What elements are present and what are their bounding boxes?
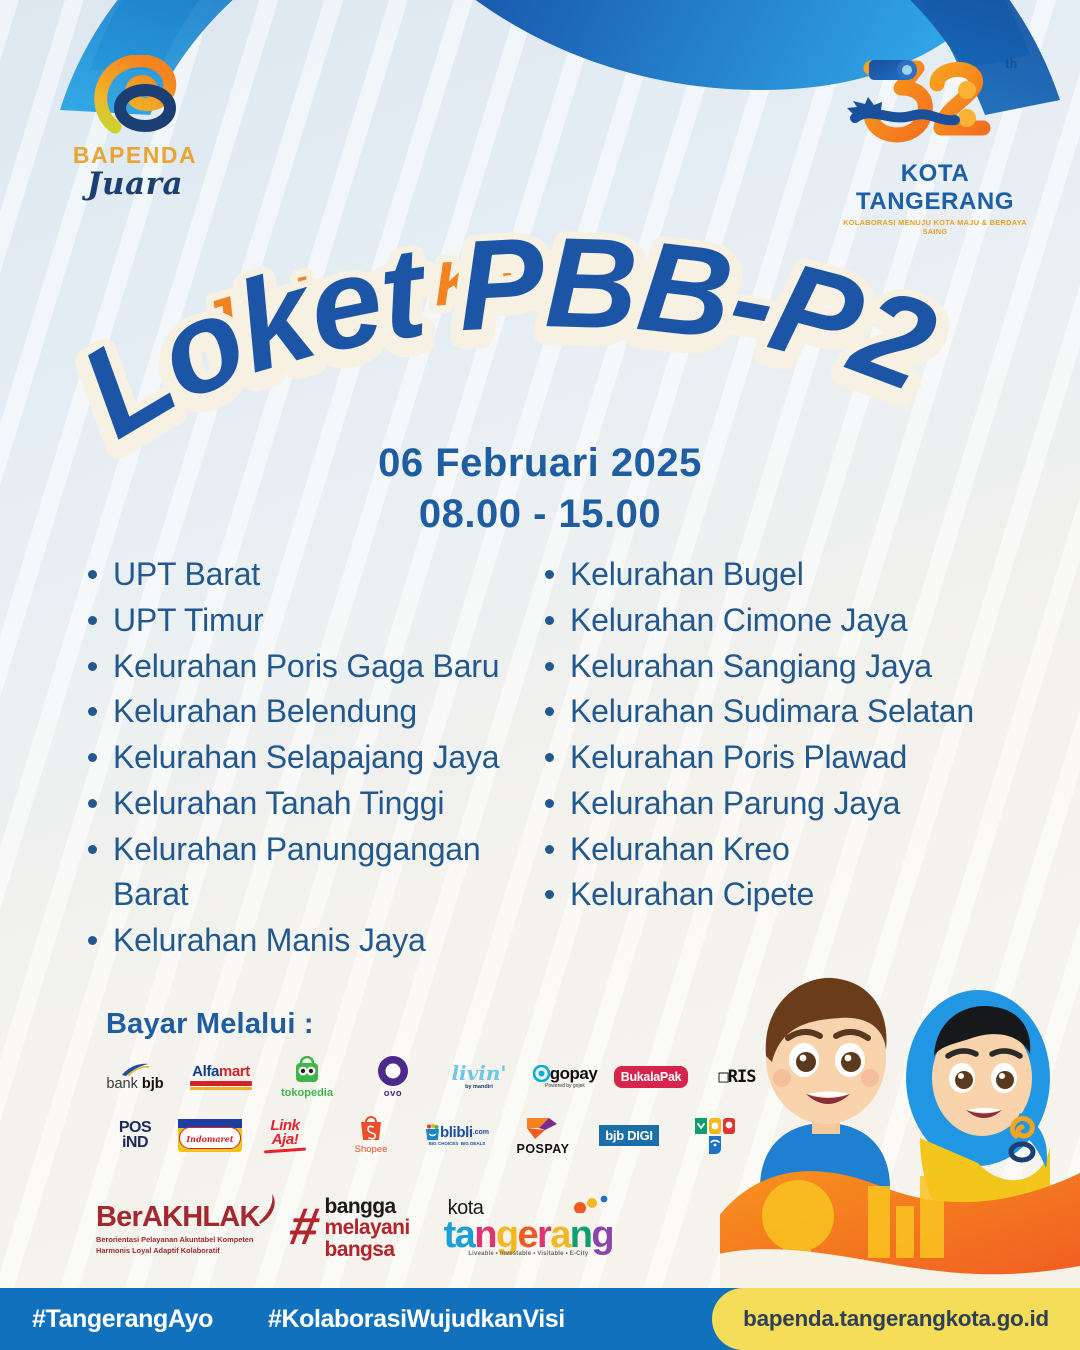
event-date: 06 Februari 2025 [0, 438, 1080, 489]
bullet-icon [545, 753, 554, 762]
bullet-icon [88, 707, 97, 716]
location-label: Kelurahan Tanah Tinggi [113, 781, 535, 827]
list-item: Kelurahan Tanah Tinggi [88, 781, 535, 827]
livin-by-mandiri: by mandiri [465, 1085, 493, 1091]
pospay-wordmark: POSPAY [516, 1143, 569, 1156]
list-item: Kelurahan Bugel [545, 552, 1080, 598]
bank-bjb-wordmark: bank bjb [106, 1077, 163, 1092]
footer-bar: #TangerangAyo #KolaborasiWujudkanVisi ba… [0, 1288, 1080, 1350]
list-item: UPT Timur [88, 598, 535, 644]
blibli-tagline: BIG CHOICES BIG DEALS [429, 1142, 486, 1147]
payment-logo-pos-ind: POS iND [92, 1106, 178, 1164]
list-item: Kelurahan Sudimara Selatan [545, 689, 1080, 735]
bullet-icon [88, 936, 97, 945]
payment-logo-linkaja: Link Aja! [242, 1106, 328, 1164]
bullet-icon [88, 753, 97, 762]
ovo-circle-icon [377, 1055, 409, 1087]
berakhlak-logo: BerAKHLAK Berorientasi Pelayanan Akuntab… [96, 1201, 260, 1256]
alfamart-wordmark: Alfamart [192, 1064, 250, 1079]
svg-text:Loket PBB-P2: Loket PBB-P2 [58, 211, 952, 465]
bukalapak-wordmark: BukalaPak [614, 1066, 689, 1088]
hashtag-tangerang-ayo: #TangerangAyo [32, 1305, 213, 1334]
tokopedia-wordmark: tokopedia [281, 1088, 333, 1099]
berakhlak-tagline-line1: Berorientasi Pelayanan Akuntabel Kompete… [96, 1235, 260, 1245]
alfamart-yellow-bar [190, 1087, 252, 1090]
bullet-icon [545, 890, 554, 899]
tangerang-tagline: Liveable • Investable • Visitable • E-Ci… [444, 1251, 613, 1257]
shopee-bag-icon [357, 1115, 385, 1143]
bullet-icon [545, 845, 554, 854]
payment-logo-ovo: ovo [350, 1048, 436, 1106]
location-label: Kelurahan Manis Jaya [113, 918, 535, 964]
list-item: UPT Barat [88, 552, 535, 598]
berakhlak-tagline-line2: Harmonis Loyal Adaptif Kolaboratif [96, 1246, 260, 1256]
kota-tangerang-city-logo: kota tangerang Liveable • Investable • V… [444, 1199, 613, 1257]
payment-logo-pospay: POSPAY [500, 1106, 586, 1164]
traveloka-tiles-icon [693, 1112, 737, 1158]
bullet-icon [88, 845, 97, 854]
location-label: Kelurahan Poris Plawad [570, 735, 1080, 781]
bullet-icon [545, 616, 554, 625]
linkaja-underline [264, 1148, 306, 1153]
bullet-icon [545, 570, 554, 579]
location-label: Kelurahan Sangiang Jaya [570, 644, 1080, 690]
tokopedia-bag-icon [292, 1056, 322, 1086]
bullet-icon [88, 616, 97, 625]
ind-wordmark: iND [122, 1135, 148, 1150]
blibli-bag-icon [425, 1124, 440, 1141]
list-item: Kelurahan Sangiang Jaya [545, 644, 1080, 690]
ovo-wordmark: ovo [384, 1089, 402, 1099]
bapenda-swirl-icon [85, 55, 185, 135]
livin-wordmark: livin' [451, 1063, 506, 1083]
blibli-dotcom: .com [473, 1129, 489, 1136]
payment-logo-qris: □RIS [694, 1048, 780, 1106]
institution-logos: BerAKHLAK Berorientasi Pelayanan Akuntab… [96, 1196, 656, 1260]
payment-logo-grid: bank bjb Alfamart to [92, 1048, 772, 1164]
location-label: Kelurahan Parung Jaya [570, 781, 1080, 827]
bullet-icon [88, 570, 97, 579]
anniversary-32-icon: th [845, 48, 1025, 153]
location-label: Kelurahan Cipete [570, 872, 1080, 918]
location-label: Kelurahan Panunggangan Barat [113, 827, 535, 919]
alfamart-red-bar [190, 1081, 252, 1086]
footer-hashtags: #TangerangAyo #KolaborasiWujudkanVisi [0, 1288, 565, 1350]
melayani-word: melayani [325, 1217, 410, 1238]
list-item: Kelurahan Selapajang Jaya [88, 735, 535, 781]
location-label: Kelurahan Poris Gaga Baru [113, 644, 535, 690]
bullet-icon [88, 799, 97, 808]
payment-logo-traveloka [672, 1106, 758, 1164]
shopee-wordmark: Shopee [355, 1145, 388, 1155]
payment-logo-blibli: blibli .com BIG CHOICES BIG DEALS [414, 1106, 500, 1164]
bullet-icon [545, 662, 554, 671]
location-label: Kelurahan Selapajang Jaya [113, 735, 535, 781]
location-label: Kelurahan Cimone Jaya [570, 598, 1080, 644]
payment-row-2: POS iND Indomaret Link Aja! [92, 1106, 772, 1164]
bullet-icon [545, 799, 554, 808]
event-time: 08.00 - 15.00 [0, 489, 1080, 540]
list-item: Kelurahan Cimone Jaya [545, 598, 1080, 644]
website-url-pill[interactable]: bapenda.tangerangkota.go.id [712, 1288, 1080, 1350]
anniversary-suffix: th [1005, 56, 1017, 71]
list-item: Kelurahan Parung Jaya [545, 781, 1080, 827]
bullet-icon [88, 662, 97, 671]
location-label: Kelurahan Belendung [113, 689, 535, 735]
bangga-melayani-bangsa-logo: # bangga melayani bangsa [290, 1196, 410, 1260]
bjb-digi-wordmark: bjb DIGI [599, 1125, 658, 1146]
location-label: Kelurahan Bugel [570, 552, 1080, 598]
payment-logo-bjb-digi: bjb DIGI [586, 1106, 672, 1164]
aja-wordmark: Aja! [272, 1133, 299, 1147]
bangga-word: bangga [325, 1196, 410, 1217]
list-item: Kelurahan Cipete [545, 872, 1080, 918]
list-item: Kelurahan Poris Gaga Baru [88, 644, 535, 690]
gopay-powered-by: Powered by gojek [545, 1084, 585, 1089]
bapenda-wordmark: BAPENDA [60, 142, 210, 169]
list-item: Kelurahan Poris Plawad [545, 735, 1080, 781]
payment-row-1: bank bjb Alfamart to [92, 1048, 772, 1106]
berakhlak-wordmark: BerAKHLAK [96, 1201, 260, 1233]
indomaret-wordmark: Indomaret [186, 1134, 233, 1144]
payment-section-title: Bayar Melalui : [106, 1008, 314, 1041]
bangsa-word: bangsa [325, 1239, 410, 1260]
payment-logo-bank-bjb: bank bjb [92, 1048, 178, 1106]
poster-headline: Jadwal Keliling Jadwal Keliling Loket PB… [0, 175, 1080, 475]
location-lists: UPT Barat UPT Timur Kelurahan Poris Gaga… [0, 552, 1080, 964]
hashtag-kolaborasi: #KolaborasiWujudkanVisi [268, 1305, 565, 1334]
berakhlak-swoosh-icon [256, 1192, 280, 1226]
location-list-left: UPT Barat UPT Timur Kelurahan Poris Gaga… [0, 552, 535, 964]
payment-logo-tokopedia: tokopedia [264, 1048, 350, 1106]
mascot-illustration [720, 938, 1080, 1288]
hashtag-glyph: # [286, 1207, 322, 1249]
tangerang-dots-icon [571, 1195, 611, 1213]
payment-logo-bukalapak: BukalaPak [608, 1048, 694, 1106]
payment-logo-alfamart: Alfamart [178, 1048, 264, 1106]
headline-title: Loket PBB-P2 [58, 211, 952, 465]
bullet-icon [545, 707, 554, 716]
payment-logo-gopay: gopay Powered by gojek [522, 1048, 608, 1106]
pospay-mark-icon [523, 1115, 563, 1141]
gopay-circle-icon [533, 1065, 550, 1082]
payment-logo-indomaret: Indomaret [178, 1106, 242, 1164]
location-label: Kelurahan Sudimara Selatan [570, 689, 1080, 735]
tangerang-wordmark: tangerang [444, 1217, 613, 1253]
payment-logo-livin-mandiri: livin' by mandiri [436, 1048, 522, 1106]
qris-wordmark: □RIS [719, 1067, 756, 1087]
pos-wordmark: POS [119, 1120, 151, 1135]
location-label: UPT Timur [113, 598, 535, 644]
location-list-right: Kelurahan Bugel Kelurahan Cimone Jaya Ke… [535, 552, 1080, 964]
bjb-wing-icon [120, 1063, 150, 1077]
list-item: Kelurahan Manis Jaya [88, 918, 535, 964]
list-item: Kelurahan Belendung [88, 689, 535, 735]
location-label: Kelurahan Kreo [570, 827, 1080, 873]
list-item: Kelurahan Kreo [545, 827, 1080, 873]
blibli-wordmark: blibli [440, 1125, 473, 1140]
location-label: UPT Barat [113, 552, 535, 598]
list-item: Kelurahan Panunggangan Barat [88, 827, 535, 919]
gopay-wordmark: gopay [550, 1065, 598, 1082]
payment-logo-shopee: Shopee [328, 1106, 414, 1164]
poster-canvas: BAPENDA Juara th [0, 0, 1080, 1350]
event-datetime: 06 Februari 2025 08.00 - 15.00 [0, 438, 1080, 540]
